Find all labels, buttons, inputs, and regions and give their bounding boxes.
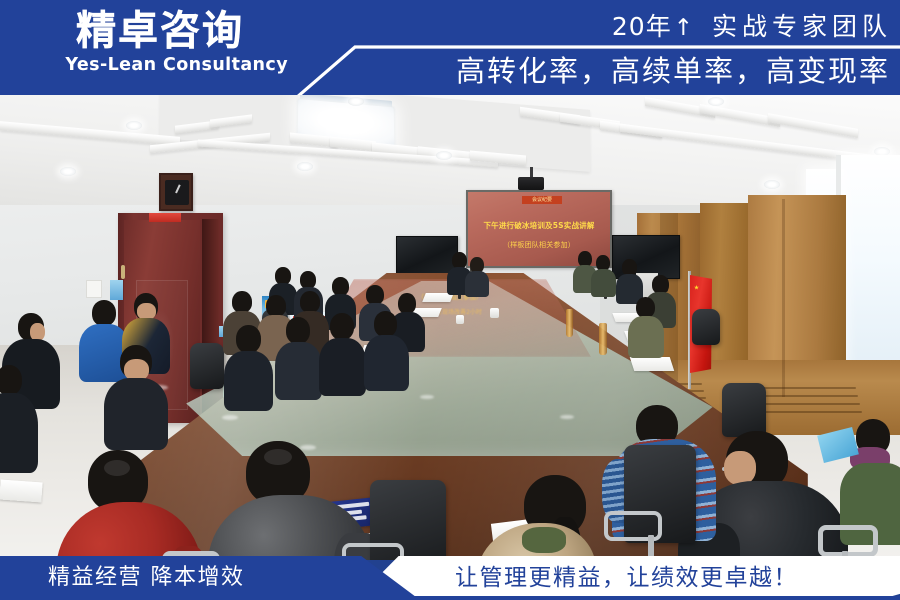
wall-clock-icon — [159, 173, 193, 211]
ceiling — [0, 95, 900, 205]
screen-title-text: 会议纪要 — [522, 196, 562, 204]
door-exit-sign — [149, 213, 181, 222]
person-head — [374, 311, 397, 337]
ceiling-spotlight — [126, 121, 142, 130]
office-chair — [692, 309, 720, 345]
person-body — [591, 269, 616, 297]
person-body — [628, 316, 664, 358]
person-head — [398, 293, 416, 314]
person-head — [286, 317, 310, 344]
table-specular-highlight — [222, 415, 238, 420]
ceiling-spotlight — [348, 97, 364, 106]
person-head — [232, 291, 252, 313]
ceiling-spotlight — [764, 180, 780, 189]
person-body — [465, 271, 489, 297]
screen-line-1: 下午进行破冰培训及5S实战讲解 — [468, 220, 610, 231]
screen-title-band: 会议纪要 — [522, 196, 562, 204]
tagline-expert-team: 实战专家团队 — [702, 12, 892, 41]
person-head — [300, 291, 320, 313]
person-face — [724, 451, 756, 485]
water-bottle — [566, 309, 573, 337]
header-taglines: 20年↑实战专家团队 高转化率，高续单率，高变现率 — [360, 0, 900, 95]
window — [840, 155, 900, 385]
office-chair — [722, 383, 766, 437]
ceiling-spotlight — [708, 97, 724, 106]
company-logo: 精卓咨询 Yes-Lean Consultancy — [30, 8, 290, 88]
water-bottle — [599, 323, 607, 355]
person-body — [0, 393, 38, 473]
document-on-table — [630, 357, 675, 371]
door-handle-icon[interactable] — [121, 265, 125, 279]
table-specular-highlight — [300, 445, 316, 450]
footer-bar: 精益经营 降本增效 让管理更精益，让绩效更卓越！ — [0, 556, 900, 600]
ceiling-projector — [518, 177, 544, 190]
person-body — [364, 335, 409, 391]
person-head — [636, 297, 655, 318]
person-head — [330, 313, 354, 340]
ceiling-spotlight — [297, 162, 313, 171]
clock-face — [165, 180, 189, 205]
ceiling-spotlight — [60, 167, 76, 176]
wood-grain-line — [782, 199, 785, 397]
person-head — [0, 365, 22, 395]
table-specular-highlight — [560, 415, 574, 419]
tagline-years: 20年 — [612, 12, 672, 41]
person-head — [266, 295, 286, 317]
footer-slogan-right: 让管理更精益，让绩效更卓越！ — [455, 556, 798, 600]
screen-line-2: （样板团队相关参加） — [468, 240, 610, 250]
ceiling-spotlight — [436, 151, 452, 160]
hair-highlight — [264, 449, 292, 465]
wall-notice-blue — [110, 280, 123, 300]
tagline-primary: 20年↑实战专家团队 — [612, 8, 892, 46]
table-specular-highlight — [420, 395, 434, 399]
footer-slogan-left: 精益经营 降本增效 — [48, 556, 245, 600]
header-bar: 精卓咨询 Yes-Lean Consultancy 20年↑实战专家团队 高转化… — [0, 0, 900, 95]
person-head — [92, 300, 116, 326]
meeting-room-photo: 会议纪要 下午进行破冰培训及5S实战讲解 （样板团队相关参加） （样板团队相关参… — [0, 95, 900, 560]
logo-chinese-name: 精卓咨询 — [30, 8, 290, 54]
wood-vent-slot — [760, 387, 856, 389]
wood-vent-slot — [760, 395, 858, 397]
person-body — [224, 351, 273, 411]
wood-vent-slot — [760, 411, 862, 413]
person-head — [236, 325, 261, 353]
person-body — [104, 378, 168, 450]
up-arrow-icon: ↑ — [672, 15, 702, 41]
person-head — [366, 285, 384, 305]
hair-highlight — [104, 460, 130, 476]
person-body — [275, 342, 322, 400]
logo-english-name: Yes-Lean Consultancy — [30, 55, 290, 75]
wood-vent-slot — [760, 403, 860, 405]
promo-banner: 精卓咨询 Yes-Lean Consultancy 20年↑实战专家团队 高转化… — [0, 0, 900, 600]
chair-armrest — [818, 525, 878, 557]
wall-plate — [86, 280, 102, 298]
paper-cup — [490, 308, 499, 318]
paper-cup — [456, 315, 464, 324]
person-scarf — [522, 527, 566, 553]
tagline-secondary: 高转化率，高续单率，高变现率 — [456, 49, 890, 93]
office-chair — [190, 343, 224, 389]
document-on-table — [0, 480, 43, 503]
person-body — [319, 338, 366, 396]
